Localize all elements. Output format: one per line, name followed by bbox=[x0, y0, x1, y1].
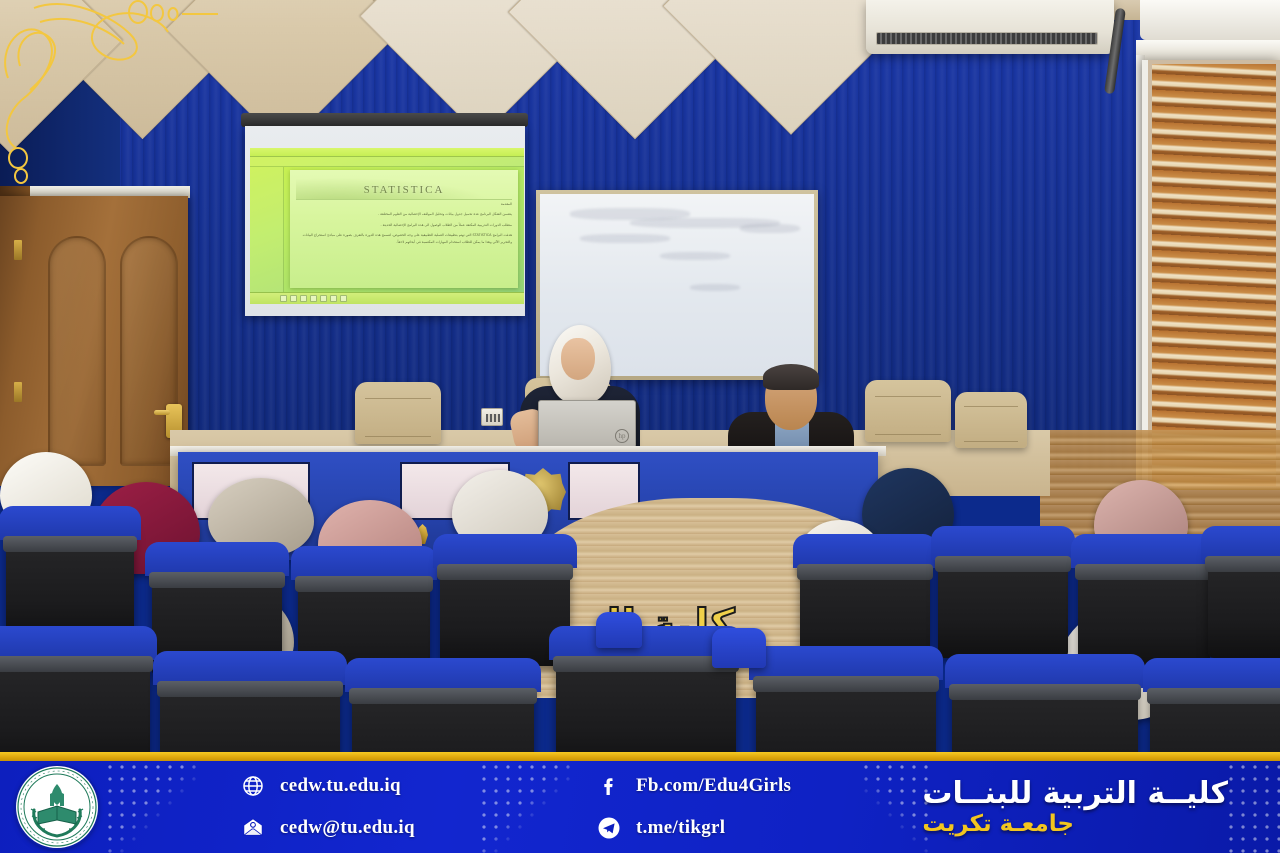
slide-body: المقدمة يتضمن الشكل البرنامج عدة تحميل ج… bbox=[296, 201, 512, 245]
seat-bar bbox=[437, 564, 573, 580]
seat-headrest bbox=[433, 534, 577, 568]
seat-accent bbox=[596, 612, 642, 648]
door-hinge bbox=[14, 240, 22, 260]
seat-headrest bbox=[291, 546, 437, 580]
website-url: cedw.tu.edu.iq bbox=[280, 775, 401, 797]
envelope-icon bbox=[240, 815, 266, 841]
institution-name-block: كليــة التربية للبنــات جامعـة تكريت bbox=[922, 761, 1228, 853]
seat-headrest bbox=[0, 506, 141, 540]
media-icon bbox=[330, 295, 337, 302]
hp-logo: hp bbox=[615, 429, 629, 443]
seat-headrest bbox=[1143, 658, 1280, 692]
projector-screen-roller bbox=[241, 113, 528, 127]
seat-bar bbox=[1205, 556, 1280, 572]
presenter-face bbox=[561, 338, 595, 380]
auditorium-seat[interactable] bbox=[1078, 548, 1210, 668]
seat-accent bbox=[712, 628, 766, 668]
facebook-handle: Fb.com/Edu4Girls bbox=[636, 775, 791, 797]
os-taskbar bbox=[250, 292, 524, 304]
door-panel bbox=[48, 236, 106, 466]
seat-headrest bbox=[749, 646, 943, 680]
wall-socket bbox=[481, 408, 503, 426]
auditorium-seat[interactable] bbox=[6, 520, 134, 640]
seat-headrest bbox=[153, 651, 347, 685]
seat-bar bbox=[349, 688, 537, 704]
panelist-hair bbox=[763, 364, 819, 390]
auditorium-seat[interactable] bbox=[160, 665, 340, 752]
wooden-blinds bbox=[1152, 64, 1276, 486]
page-banner-swoosh bbox=[296, 174, 512, 200]
auditorium-seat[interactable] bbox=[952, 668, 1138, 752]
globe-icon bbox=[240, 773, 266, 799]
college-logo-icon bbox=[16, 766, 98, 848]
university-name-arabic: جامعـة تكريت bbox=[922, 812, 1074, 836]
laptop: hp bbox=[538, 400, 636, 448]
auditorium-seat[interactable] bbox=[938, 540, 1068, 658]
dot-pattern bbox=[1225, 761, 1280, 853]
telegram-handle: t.me/tikgrl bbox=[636, 817, 725, 839]
seat-bar bbox=[797, 564, 933, 580]
college-logo bbox=[16, 766, 98, 848]
dot-pattern bbox=[478, 761, 574, 853]
panel-chair bbox=[955, 392, 1027, 448]
lecture-hall-photo: STATISTICA المقدمة يتضمن الشكل البرنامج … bbox=[0, 0, 1280, 752]
auditorium-seat[interactable] bbox=[756, 660, 936, 752]
ac-vent bbox=[876, 32, 1098, 45]
app-ribbon bbox=[250, 157, 524, 167]
dot-pattern bbox=[860, 761, 930, 853]
seat-headrest bbox=[145, 542, 289, 576]
seat-bar bbox=[3, 536, 137, 552]
app-toolbar bbox=[250, 148, 524, 157]
seat-bar bbox=[949, 684, 1141, 700]
auditorium-seat[interactable] bbox=[556, 640, 736, 752]
air-conditioner-secondary bbox=[1140, 0, 1280, 40]
auditorium-seat[interactable] bbox=[1150, 672, 1280, 752]
seat-headrest bbox=[793, 534, 937, 568]
seat-headrest bbox=[931, 526, 1075, 560]
seat-bar bbox=[149, 572, 285, 588]
seat-bar bbox=[0, 656, 153, 672]
facebook-icon bbox=[596, 773, 622, 799]
door-hinge bbox=[14, 382, 22, 402]
seat-headrest bbox=[0, 626, 157, 660]
seat-bar bbox=[935, 556, 1071, 572]
app-sidebar bbox=[250, 167, 284, 292]
doc-icon bbox=[320, 295, 327, 302]
wooden-door bbox=[0, 196, 188, 486]
slide-paragraph: هدفت البرامج STATISTICA التي تهتم بتطبيق… bbox=[296, 232, 512, 245]
contact-column-social: Fb.com/Edu4Girls t.me/tikgrl bbox=[596, 761, 791, 853]
seat-bar bbox=[157, 681, 343, 697]
window-header bbox=[1136, 40, 1280, 60]
window bbox=[1142, 60, 1280, 490]
air-conditioner bbox=[866, 0, 1114, 54]
seat-bar bbox=[295, 576, 433, 592]
seat-bar bbox=[753, 676, 939, 692]
seat-bar bbox=[1075, 564, 1213, 580]
dot-pattern bbox=[104, 761, 200, 853]
folder-icon bbox=[290, 295, 297, 302]
screenshot-root: STATISTICA المقدمة يتضمن الشكل البرنامج … bbox=[0, 0, 1280, 853]
seat-headrest bbox=[1071, 534, 1217, 568]
auditorium-seat[interactable] bbox=[352, 672, 534, 752]
window-icon bbox=[280, 295, 287, 302]
telegram-icon bbox=[596, 815, 622, 841]
seat-headrest bbox=[1201, 526, 1280, 560]
auditorium-seat[interactable] bbox=[0, 640, 150, 752]
gold-separator-bar bbox=[0, 752, 1280, 761]
mail-icon bbox=[310, 295, 317, 302]
contact-column-web: cedw.tu.edu.iq cedw@tu.edu.iq bbox=[240, 761, 415, 853]
slide-paragraph: متطلب الدورات التدريبية المكثفة عملاً من… bbox=[296, 222, 512, 228]
slide-paragraph: يتضمن الشكل البرنامج عدة تحميل جدول بيان… bbox=[296, 211, 512, 217]
contact-facebook[interactable]: Fb.com/Edu4Girls bbox=[596, 773, 791, 799]
contact-website[interactable]: cedw.tu.edu.iq bbox=[240, 773, 415, 799]
browser-icon bbox=[300, 295, 307, 302]
email-address: cedw@tu.edu.iq bbox=[280, 817, 415, 839]
settings-icon bbox=[340, 295, 347, 302]
seat-bar bbox=[1147, 688, 1280, 704]
college-name-arabic: كليــة التربية للبنــات bbox=[922, 778, 1228, 810]
projected-slide: STATISTICA المقدمة يتضمن الشكل البرنامج … bbox=[250, 148, 524, 304]
panel-chair bbox=[865, 380, 951, 442]
document-page: STATISTICA المقدمة يتضمن الشكل البرنامج … bbox=[290, 170, 518, 288]
panel-chair bbox=[355, 382, 441, 444]
contact-telegram[interactable]: t.me/tikgrl bbox=[596, 815, 791, 841]
slide-heading: المقدمة bbox=[296, 201, 512, 207]
seat-headrest bbox=[945, 654, 1145, 688]
auditorium-seat[interactable] bbox=[1208, 540, 1280, 658]
seat-headrest bbox=[345, 658, 541, 692]
contact-email[interactable]: cedw@tu.edu.iq bbox=[240, 815, 415, 841]
